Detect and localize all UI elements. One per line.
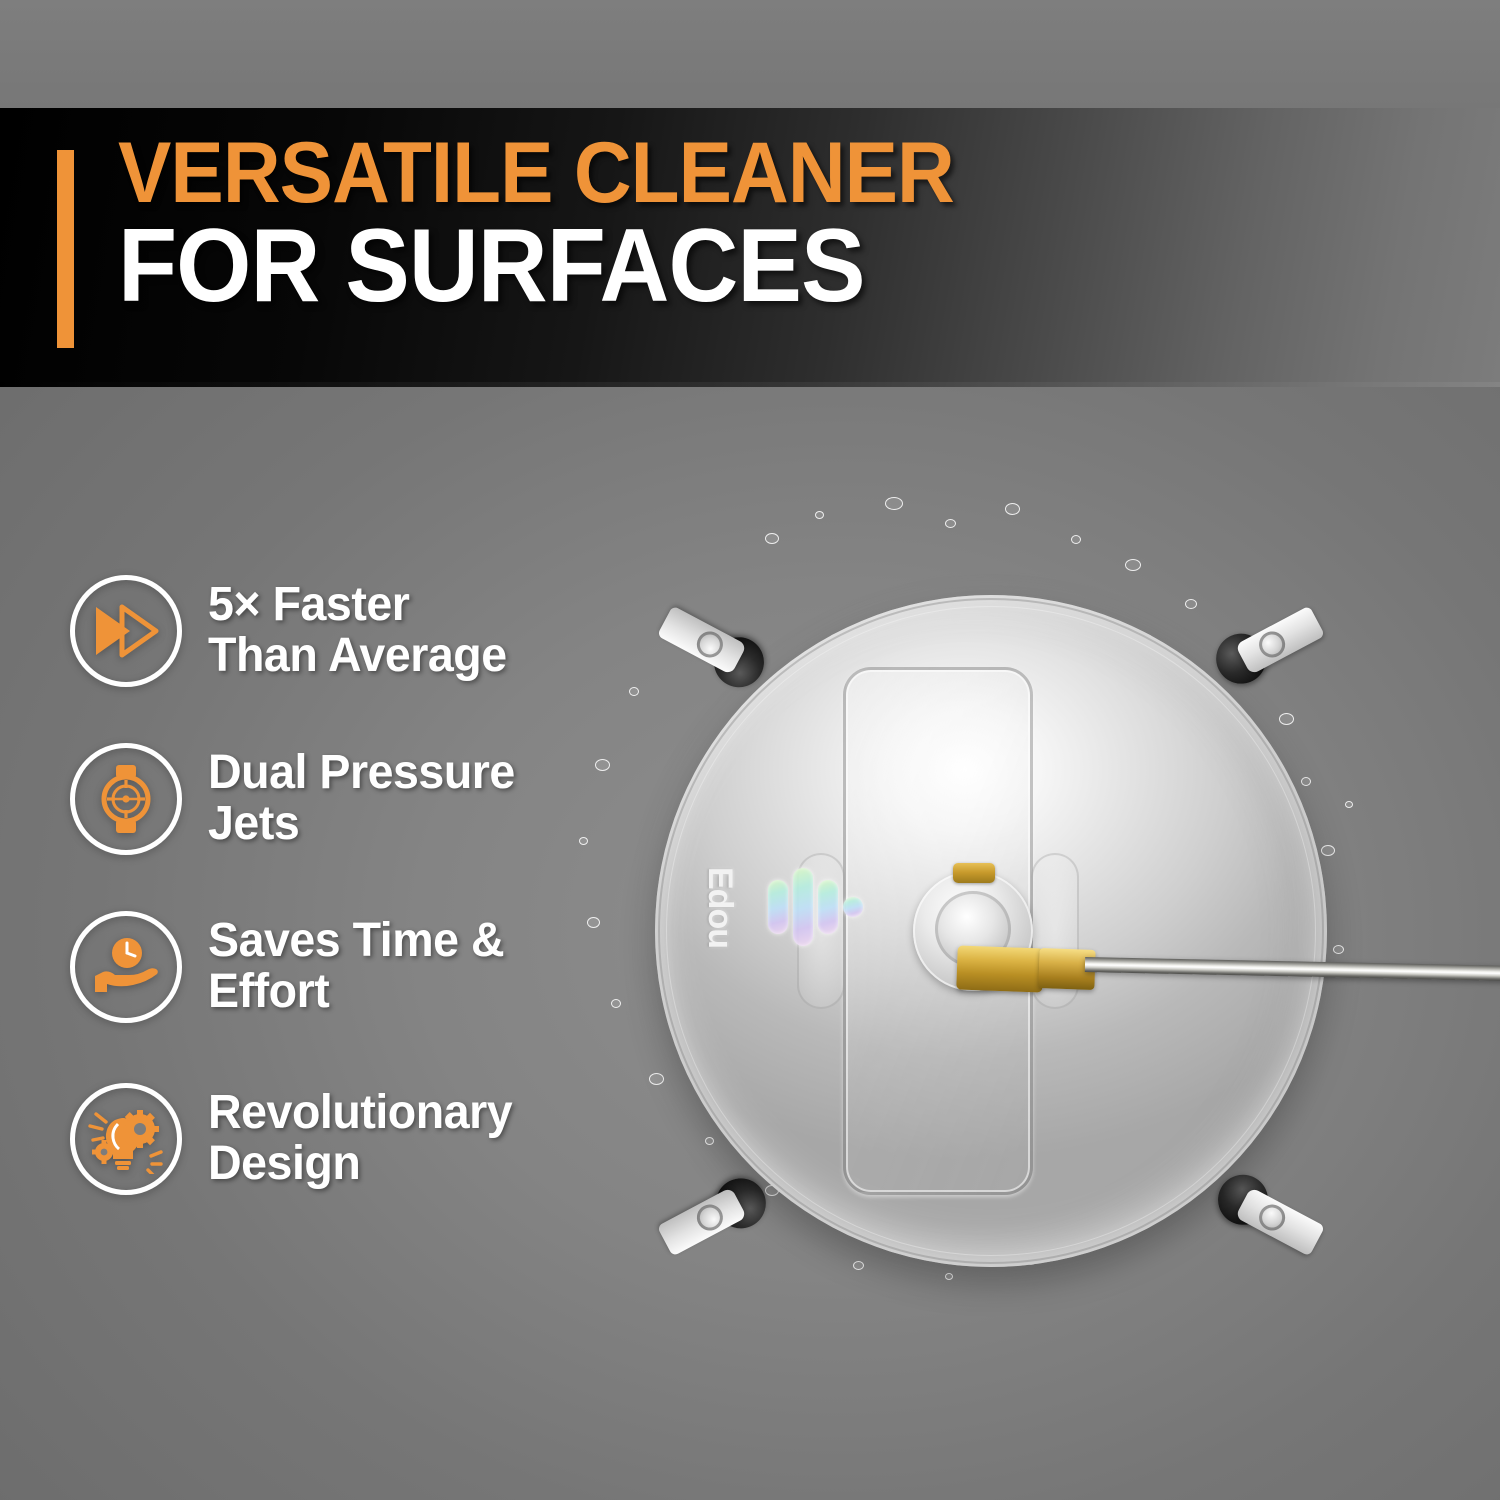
brand-name-text: Edou: [700, 867, 739, 948]
brand-drop-3: [818, 880, 838, 934]
headline-line-2: FOR SURFACES: [118, 219, 1234, 315]
orange-accent-bar: [57, 150, 74, 348]
feature-label: Revolutionary Design: [208, 1088, 512, 1190]
feature-item-revolutionary-design: Revolutionary Design: [70, 1083, 522, 1195]
feature-label: Dual Pressure Jets: [208, 748, 515, 850]
lightbulb-gears-icon: [70, 1083, 182, 1195]
brand-drop-2: [793, 868, 813, 946]
brand-drop-1: [768, 880, 788, 934]
brass-swivel-fitting: [956, 946, 1043, 993]
feature-item-saves-time: Saves Time & Effort: [70, 911, 513, 1023]
brand-droplet-marks: [768, 868, 863, 946]
brand-drop-4: [843, 897, 863, 917]
product-image: Edou: [655, 595, 1327, 1267]
headline-line-1: VERSATILE CLEANER: [118, 134, 1234, 213]
pressure-gauge-watch-icon: [70, 743, 182, 855]
headline-block: VERSATILE CLEANER FOR SURFACES: [118, 134, 1318, 315]
brand-logo: Edou: [679, 847, 849, 967]
feature-label: Saves Time & Effort: [208, 916, 504, 1018]
brass-top-cap: [953, 863, 995, 883]
feature-item-faster: 5× Faster Than Average: [70, 575, 516, 687]
background-top-strip: [0, 0, 1500, 108]
fast-forward-arrows-icon: [70, 575, 182, 687]
feature-label: 5× Faster Than Average: [208, 580, 507, 682]
image-canvas: VERSATILE CLEANER FOR SURFACES: [0, 0, 1500, 1500]
feature-item-dual-pressure: Dual Pressure Jets: [70, 743, 524, 855]
header-banner: VERSATILE CLEANER FOR SURFACES: [0, 108, 1500, 387]
hand-holding-clock-icon: [70, 911, 182, 1023]
